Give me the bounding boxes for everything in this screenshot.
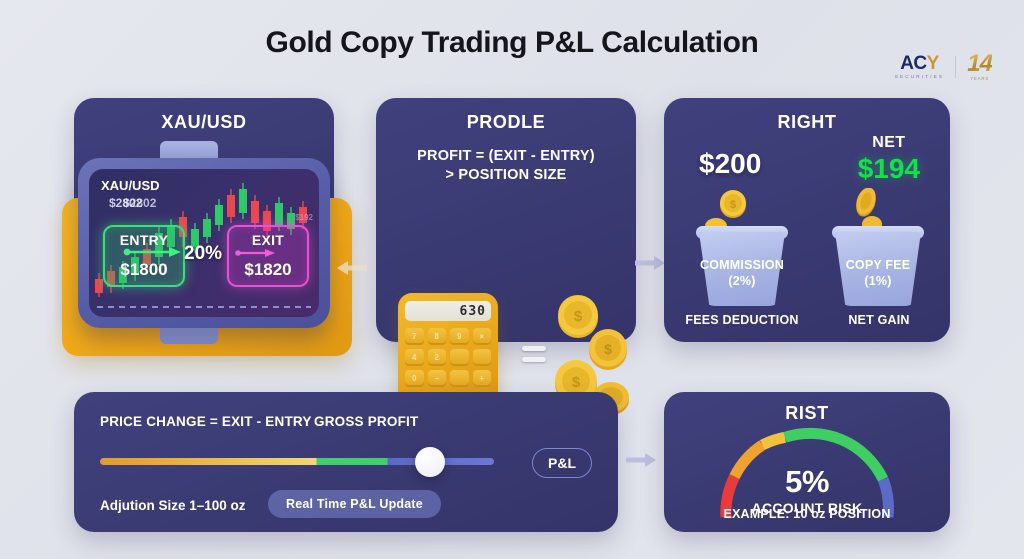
- panel-xauusd-title: XAU/USD: [74, 112, 334, 133]
- tablet-screen: XAU/USD $2802 $2802 $192 ENTRY $1800 20%…: [89, 169, 319, 317]
- pl-pill[interactable]: P&L: [532, 448, 592, 478]
- formula-line-1: PROFIT = (EXIT - ENTRY): [392, 147, 620, 166]
- calculator-key[interactable]: [450, 370, 469, 387]
- copyfee-bucket-text: COPY FEE (1%): [823, 258, 933, 289]
- arrow-right-icon: [626, 450, 656, 470]
- commission-bucket-text: COMMISSION (2%): [687, 258, 797, 289]
- price-change-formula: PRICE CHANGE = EXIT - ENTRY: [100, 414, 312, 429]
- exit-value: $1820: [244, 260, 291, 280]
- calculator-key[interactable]: 8: [428, 328, 447, 345]
- realtime-update-pill[interactable]: Real Time P&L Update: [268, 490, 441, 518]
- svg-text:$: $: [572, 374, 581, 391]
- svg-text:$: $: [604, 341, 612, 357]
- svg-text:$: $: [574, 308, 583, 325]
- calculator-keypad[interactable]: 7 8 9 × 4 2 0 – +: [405, 328, 491, 387]
- risk-example: EXAMPLE: 10 oz POSITION: [664, 507, 950, 521]
- entry-label: ENTRY: [120, 232, 168, 248]
- anniversary-sub: YEARS: [970, 77, 989, 81]
- calculator-key[interactable]: 9: [450, 328, 469, 345]
- calculator-key[interactable]: [473, 349, 492, 366]
- calculator-key[interactable]: ×: [473, 328, 492, 345]
- calculator-key[interactable]: [450, 349, 469, 366]
- net-label: NET: [858, 134, 920, 152]
- anniversary-number: 14: [967, 52, 992, 76]
- arrow-left-icon: [337, 258, 367, 278]
- tablet-device: XAU/USD $2802 $2802 $192 ENTRY $1800 20%…: [78, 158, 330, 328]
- profit-formula: PROFIT = (EXIT - ENTRY) > POSITION SIZE: [392, 147, 620, 185]
- acy-wordmark-sub: SECURITIES: [895, 75, 945, 80]
- brand-divider: [955, 56, 956, 78]
- acy-wordmark: ACY: [900, 54, 939, 73]
- percent-change-label: 20%: [184, 243, 222, 265]
- page-header: Gold Copy Trading P&L Calculation ACY SE…: [0, 0, 1024, 92]
- exit-label: EXIT: [252, 232, 284, 248]
- commission-rate: (2%): [687, 274, 797, 290]
- entry-value: $1800: [120, 260, 167, 280]
- acy-wordmark-accent: Y: [927, 54, 939, 73]
- risk-value: 5%: [712, 464, 902, 500]
- calculator-key[interactable]: 4: [405, 349, 424, 366]
- panel-risk: RIST 5% ACCOUNT RISK EXAMPLE: 10 oz POSI…: [664, 392, 950, 532]
- page-title: Gold Copy Trading P&L Calculation: [0, 26, 1024, 60]
- panel-fees: RIGHT $200 NET $194 $ COMMISSION (2%) FE…: [664, 98, 950, 342]
- arrow-right-icon: [635, 253, 665, 273]
- screen-faint-price: $192: [295, 213, 313, 222]
- calculator-key[interactable]: 7: [405, 328, 424, 345]
- calculator-key[interactable]: 2: [428, 349, 447, 366]
- brand-logo: ACY SECURITIES 14 YEARS: [895, 52, 992, 81]
- equals-sign-icon: [522, 346, 546, 368]
- net-gain-caption: NET GAIN: [809, 313, 949, 327]
- fees-columns: $200 NET $194 $ COMMISSION (2%) FEES DED…: [664, 98, 950, 342]
- acy-wordmark-main: AC: [900, 54, 926, 73]
- acy-securities-logo: ACY SECURITIES: [895, 54, 945, 80]
- position-size-label: Adjution Size 1–100 oz: [100, 498, 246, 513]
- copyfee-label: COPY FEE: [823, 258, 933, 274]
- copyfee-rate: (1%): [823, 274, 933, 290]
- exit-arrow-icon: [235, 249, 275, 257]
- calculator-key[interactable]: 0: [405, 370, 424, 387]
- gross-profit-label: GROSS PROFIT: [314, 414, 418, 429]
- anniversary-badge: 14 YEARS: [967, 52, 992, 81]
- gross-amount: $200: [699, 148, 761, 180]
- net-gain-group: NET $194: [858, 134, 920, 185]
- panel-slider: PRICE CHANGE = EXIT - ENTRY GROSS PROFIT…: [74, 392, 618, 532]
- panel-formula-title: PRODLE: [376, 112, 636, 133]
- calculator-display: 630: [405, 301, 491, 321]
- position-size-slider-knob[interactable]: [415, 447, 445, 477]
- svg-text:$: $: [730, 199, 736, 211]
- panel-formula: PRODLE PROFIT = (EXIT - ENTRY) > POSITIO…: [376, 98, 636, 342]
- screen-price-overlap: $2802: [123, 196, 156, 210]
- calculator-key[interactable]: –: [428, 370, 447, 387]
- commission-label: COMMISSION: [687, 258, 797, 274]
- formula-line-2: > POSITION SIZE: [392, 166, 620, 185]
- calculator-key[interactable]: +: [473, 370, 492, 387]
- net-amount: $194: [858, 153, 920, 185]
- screen-dashed-baseline: [97, 306, 311, 308]
- entry-arrow-icon: [123, 247, 181, 257]
- screen-symbol: XAU/USD: [101, 178, 160, 193]
- panel-risk-title: RIST: [664, 403, 950, 424]
- fees-deduction-caption: FEES DEDUCTION: [672, 313, 812, 327]
